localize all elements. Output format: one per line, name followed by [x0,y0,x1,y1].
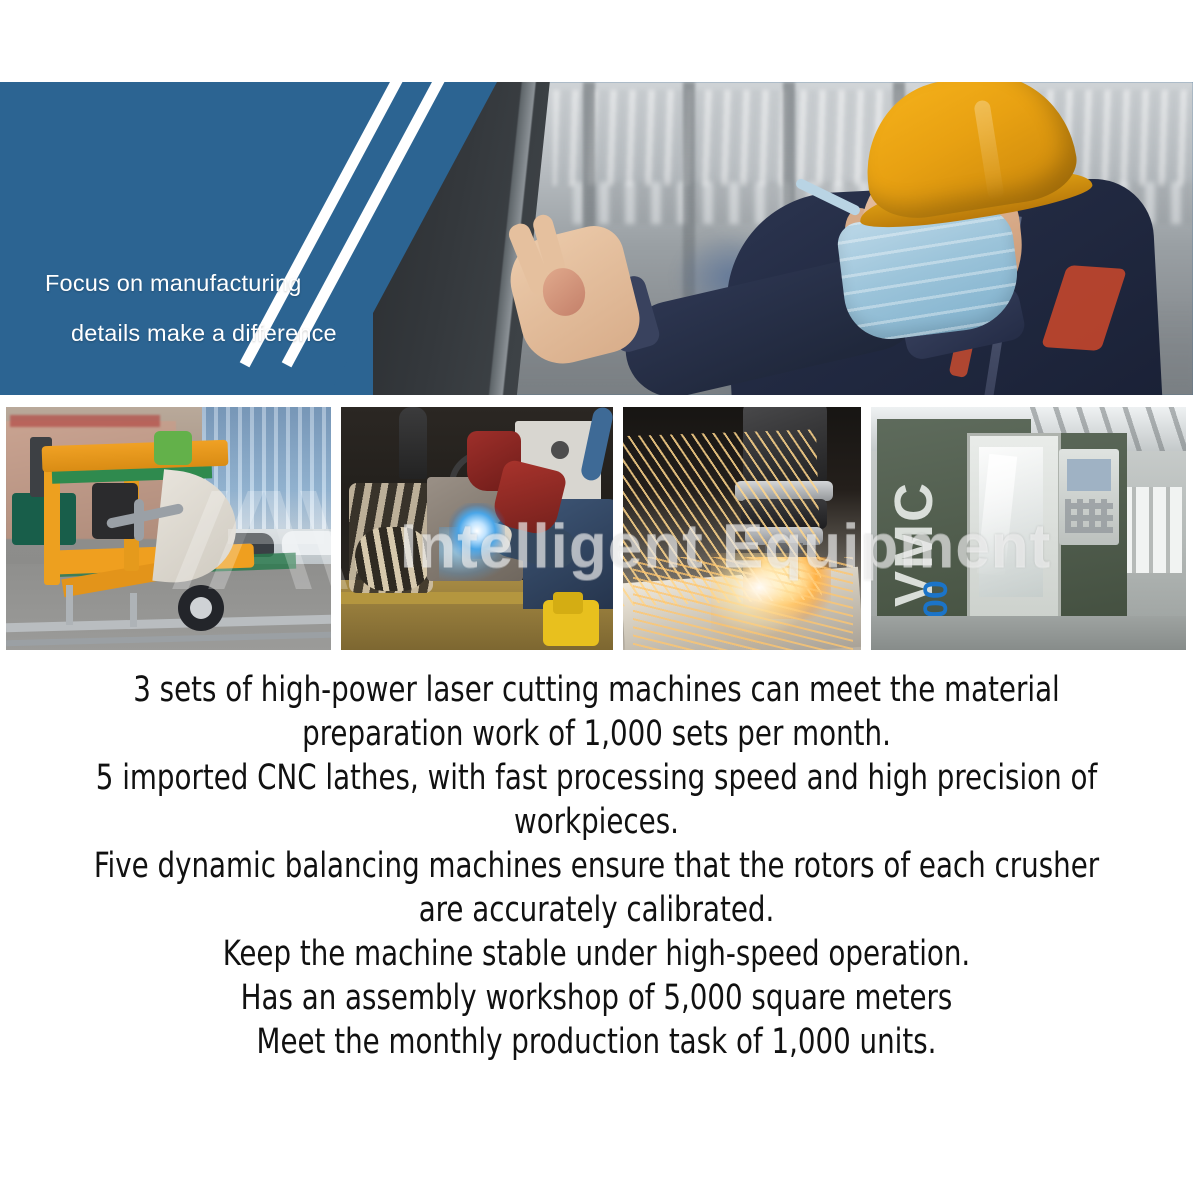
description-line: Keep the machine stable under high-speed… [72,932,1122,976]
spark-flash [711,553,831,649]
support-leg [130,593,137,627]
hero-headline-line-1: Focus on manufacturing [45,270,302,296]
trailer-wheel-hub [190,597,212,619]
support-leg [66,585,73,625]
description-line: preparation work of 1,000 sets per month… [72,712,1122,756]
cabinet-knob [551,441,569,459]
gallery-item-sawmill[interactable] [6,407,331,650]
shop-floor [871,616,1186,650]
sawmill-green-head [154,431,192,465]
wall-banner-stripe [10,415,160,427]
hero-headline: Focus on manufacturing details make a di… [45,258,465,358]
description-block: 3 sets of high-power laser cutting machi… [72,668,1122,1064]
description-line: 5 imported CNC lathes, with fast process… [72,756,1122,800]
hero-banner: Focus on manufacturing details make a di… [0,82,1193,395]
description-line: Five dynamic balancing machines ensure t… [72,844,1122,888]
description-line: are accurately calibrated. [72,888,1122,932]
parked-car [282,531,331,555]
cnc-control-screen [1067,459,1111,491]
hero-headline-line-2: details make a difference [45,308,465,358]
hero-photo [373,82,1193,395]
gallery-item-welding[interactable] [341,407,613,650]
yellow-tool-part [553,592,583,614]
description-line: Has an assembly workshop of 5,000 square… [72,976,1122,1020]
description-line: Meet the monthly production task of 1,00… [72,1020,1122,1064]
gallery-item-cnc-machine[interactable]: VMC 100 [871,407,1186,650]
image-gallery: VMC 100 [6,407,1180,650]
welding-arc [449,503,505,559]
gas-cylinder [399,407,427,479]
cnc-control-buttons [1065,499,1113,533]
sawmill-engine [92,483,138,539]
description-line: 3 sets of high-power laser cutting machi… [72,668,1122,712]
description-line: workpieces. [72,800,1122,844]
gallery-item-laser-cutting[interactable] [623,407,861,650]
sawmill-handle-post [134,499,144,541]
bent-pipe-stack-2 [355,527,431,591]
